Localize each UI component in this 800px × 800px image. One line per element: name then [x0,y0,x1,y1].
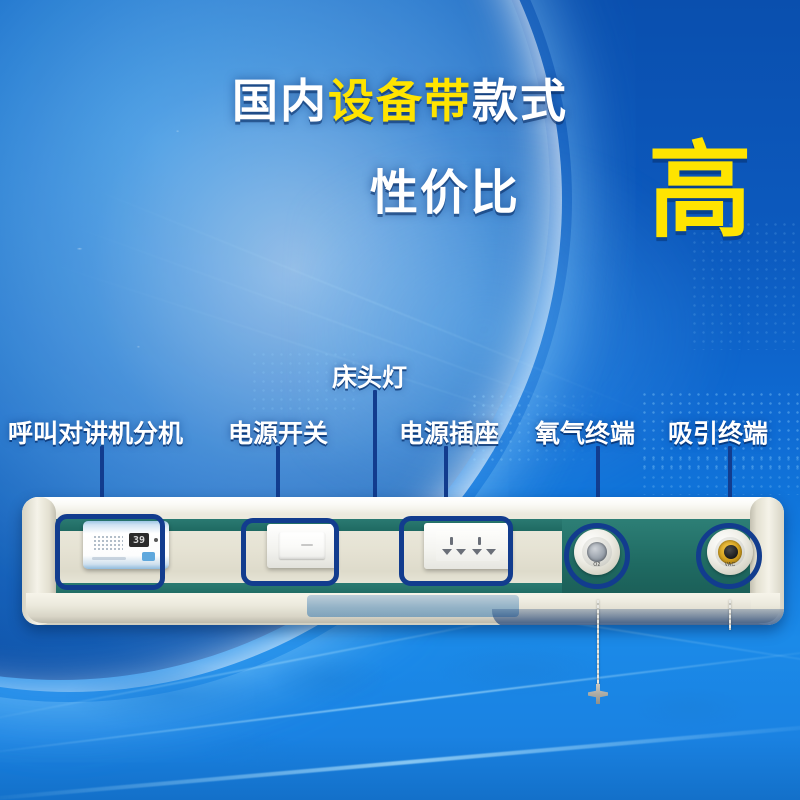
headline-line-2: 性价比 [370,170,520,218]
highlight-box-intercom [55,514,165,590]
callout-label-bed-lamp: 床头灯 [332,358,407,394]
headline-big-character: 高 [648,140,752,244]
headline-line-1: 国内设备带款式 [0,78,800,124]
poster-canvas: 国内设备带款式 性价比 高 呼叫对讲机分机 电源开关 床头灯 电源插座 氧气终端… [0,0,800,800]
world-map-pattern [0,600,800,800]
callout-label-power-socket: 电源插座 [399,414,499,450]
headline-line1-accent: 设备带 [328,75,472,127]
panel-top-highlight [22,497,784,513]
highlight-circle-oxygen [564,523,630,589]
callout-label-suction-terminal: 吸引终端 [668,414,768,450]
callout-label-oxygen-terminal: 氧气终端 [535,414,635,450]
panel-under-shadow [492,609,784,625]
dot-matrix-pattern [640,455,800,495]
highlight-circle-suction [696,523,762,589]
oxygen-pull-cord[interactable] [597,600,599,688]
headline-block: 国内设备带款式 性价比 高 [0,78,800,124]
headline-line1-part2: 款式 [472,75,568,127]
callout-label-intercom: 呼叫对讲机分机 [8,414,183,450]
suction-pull-cord[interactable] [729,600,731,630]
panel-center-rail [307,595,519,617]
highlight-box-power-socket [399,516,513,586]
highlight-box-power-switch [241,518,339,586]
headline-line1-part1: 国内 [232,75,328,127]
callout-label-power-switch: 电源开关 [228,414,328,450]
